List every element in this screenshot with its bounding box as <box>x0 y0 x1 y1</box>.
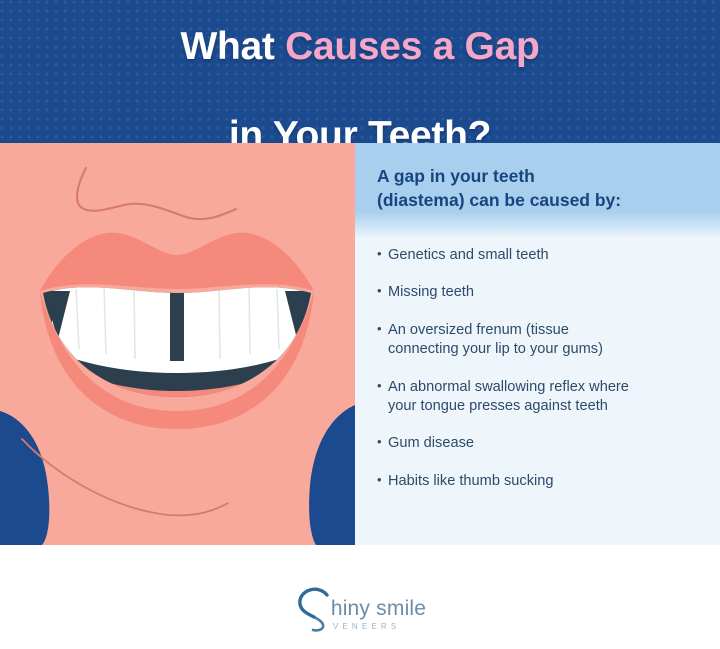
footer-area: hiny smile VENEERS <box>0 545 720 649</box>
panel-heading-text: A gap in your teeth (diastema) can be ca… <box>377 165 700 212</box>
title-line-two: in Your Teeth? <box>229 114 491 143</box>
list-item: Missing teeth <box>377 283 704 302</box>
list-item: Gum disease <box>377 434 704 453</box>
causes-panel: A gap in your teeth (diastema) can be ca… <box>355 143 720 545</box>
brand-logo: hiny smile VENEERS <box>294 586 426 632</box>
list-item: An abnormal swallowing reflex where your… <box>377 378 704 417</box>
list-item: An oversized frenum (tissue connecting y… <box>377 321 704 360</box>
smiling-mouth-illustration <box>0 143 355 545</box>
logo-s-icon <box>294 586 334 632</box>
logo-name: hiny smile <box>331 598 426 619</box>
illustration-panel <box>0 143 355 545</box>
list-item: Habits like thumb sucking <box>377 472 704 491</box>
panel-heading-band: A gap in your teeth (diastema) can be ca… <box>355 143 720 238</box>
tooth-gap-diastema <box>170 283 184 361</box>
title-word-white: What <box>180 25 285 68</box>
page-title: What Causes a Gap in Your Teeth? <box>180 0 539 143</box>
logo-text-block: hiny smile VENEERS <box>331 598 426 631</box>
causes-list: Genetics and small teeth Missing teeth A… <box>355 246 720 509</box>
header-banner: What Causes a Gap in Your Teeth? <box>0 0 720 143</box>
content-area: A gap in your teeth (diastema) can be ca… <box>0 143 720 545</box>
infographic-root: What Causes a Gap in Your Teeth? <box>0 0 720 649</box>
list-item: Genetics and small teeth <box>377 246 704 265</box>
logo-subtitle: VENEERS <box>333 623 426 631</box>
title-words-pink: Causes a Gap <box>285 25 539 68</box>
